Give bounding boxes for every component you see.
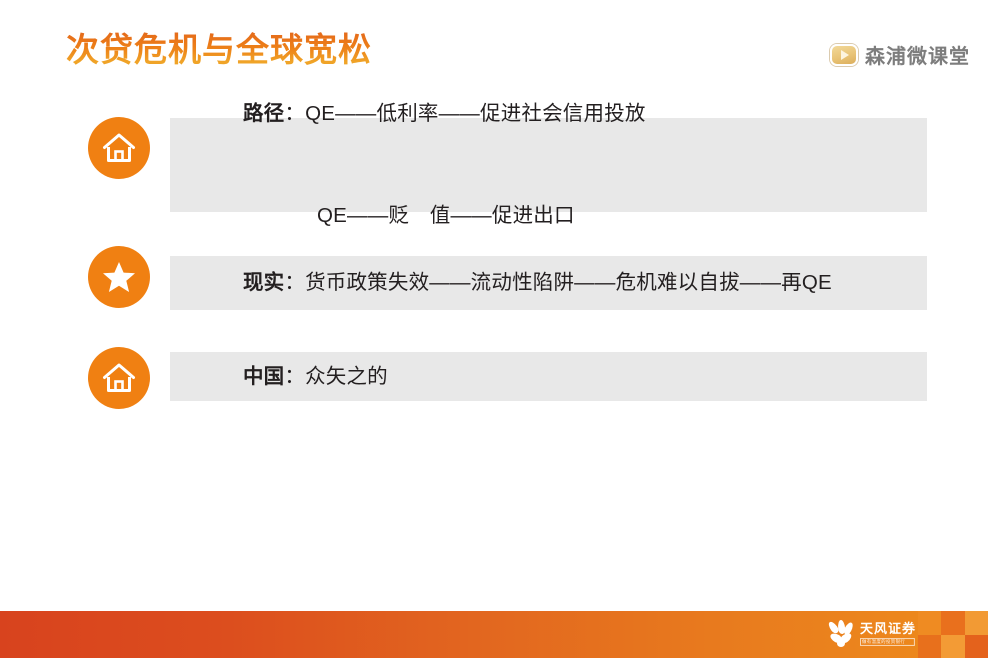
home-icon <box>88 347 150 409</box>
footer-bar: 天风证券 做有温度的投资银行 <box>0 611 988 658</box>
row-text-2: QE——贬 值——促进出口 <box>317 204 575 227</box>
row-line-primary: 中国：众矢之的 <box>184 326 927 428</box>
petal-flower-icon <box>828 620 854 648</box>
row-line-primary: 路径：QE——低利率——促进社会信用投放 <box>184 63 927 165</box>
row-text: QE——低利率——促进社会信用投放 <box>305 102 646 125</box>
home-icon <box>88 117 150 179</box>
row-label: 路径 <box>243 102 284 125</box>
row-text: 众矢之的 <box>305 365 388 388</box>
footer-mosaic-decoration <box>918 611 988 658</box>
row-line-primary: 现实：货币政策失效——流动性陷阱——危机难以自拔——再QE <box>184 232 927 334</box>
row-text: 货币政策失效——流动性陷阱——危机难以自拔——再QE <box>305 271 832 294</box>
row-colon: ： <box>284 102 305 125</box>
company-logo: 天风证券 做有温度的投资银行 <box>828 620 916 648</box>
text-band: 现实：货币政策失效——流动性陷阱——危机难以自拔——再QE <box>170 256 927 310</box>
row-colon: ： <box>284 365 305 388</box>
row-label: 现实 <box>243 271 284 294</box>
text-band: 路径：QE——低利率——促进社会信用投放 QE——贬 值——促进出口 <box>170 118 927 212</box>
text-band: 中国：众矢之的 <box>170 352 927 401</box>
star-icon <box>88 246 150 308</box>
company-tagline: 做有温度的投资银行 <box>860 638 915 646</box>
row-label: 中国 <box>243 365 284 388</box>
row-colon: ： <box>284 271 305 294</box>
slide: 次贷危机与全球宽松 森浦微课堂 路径：QE——低利率——促进社会信用投放 <box>0 0 988 658</box>
company-name: 天风证券 <box>860 622 916 636</box>
